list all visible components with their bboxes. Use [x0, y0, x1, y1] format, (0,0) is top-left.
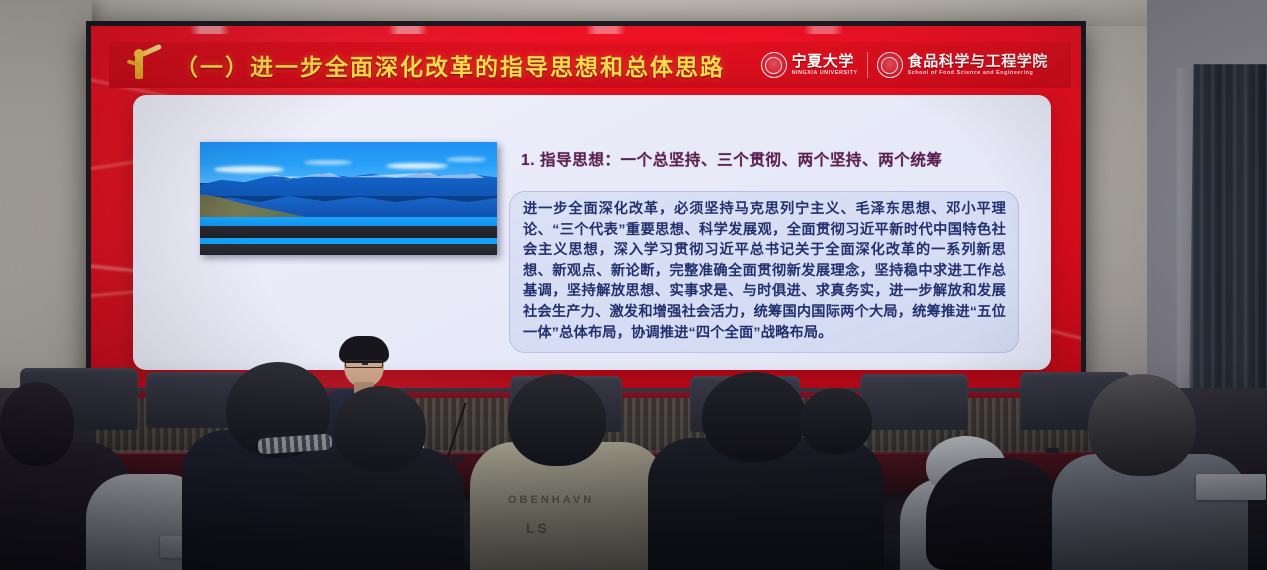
- slide-title: （一）进一步全面深化改革的指导思想和总体思路: [175, 48, 725, 82]
- audience-papers: [1196, 474, 1266, 500]
- led-video-wall-screen: （一）进一步全面深化改革的指导思想和总体思路 宁夏大学 NINGXIA UNIV…: [91, 26, 1081, 391]
- logo-name-en: NINGXIA UNIVERSITY: [792, 71, 858, 76]
- audience-member-ponytail: [926, 458, 1066, 570]
- logo-school-of-food-science: 食品科学与工程学院 School of Food Science and Eng…: [867, 52, 1057, 78]
- led-video-wall-frame: （一）进一步全面深化改革的指导思想和总体思路 宁夏大学 NINGXIA UNIV…: [86, 21, 1086, 396]
- list-item: [1052, 370, 1252, 570]
- audience-head: [702, 372, 806, 462]
- slide-heading: 1. 指导思想：一个总坚持、三个贯彻、两个坚持、两个统筹: [521, 148, 943, 170]
- logo-name-cn: 食品科学与工程学院: [908, 54, 1048, 69]
- slide-content-canvas: 1. 指导思想：一个总坚持、三个贯彻、两个坚持、两个统筹 进一步全面深化改革，必…: [133, 95, 1051, 370]
- audience-head: [334, 386, 426, 472]
- jacket-print-text-second-line: LS: [526, 520, 550, 536]
- list-item: [648, 374, 888, 570]
- panoramic-landscape-photo: [200, 142, 497, 255]
- presenter-hair: [339, 336, 389, 363]
- curtain-fold-highlight: [1177, 68, 1193, 420]
- ningxia-university-seal-icon: [761, 52, 787, 78]
- torch-bearer-emblem-icon: [119, 45, 163, 85]
- list-item: [300, 392, 470, 570]
- logo-name-cn: 宁夏大学: [792, 54, 858, 69]
- audience-head: [0, 382, 74, 466]
- audience-head: [1088, 374, 1196, 476]
- presentation-photograph-scene: （一）进一步全面深化改革的指导思想和总体思路 宁夏大学 NINGXIA UNIV…: [0, 0, 1267, 570]
- audience-head: [508, 374, 606, 466]
- window-curtain: [1189, 64, 1267, 420]
- logo-ningxia-university: 宁夏大学 NINGXIA UNIVERSITY: [752, 52, 867, 78]
- audience-head: [800, 388, 872, 454]
- jacket-print-text: OBENHAVN: [508, 494, 594, 506]
- slide-title-bar: （一）进一步全面深化改革的指导思想和总体思路 宁夏大学 NINGXIA UNIV…: [109, 42, 1071, 88]
- slide-body-textbox: 进一步全面深化改革，必须坚持马克思列宁主义、毛泽东思想、邓小平理论、“三个代表”…: [509, 191, 1019, 353]
- left-wall-panel: [0, 0, 92, 420]
- list-item: OBENHAVN LS: [470, 378, 670, 570]
- institution-logos: 宁夏大学 NINGXIA UNIVERSITY 食品科学与工程学院 School…: [752, 52, 1071, 78]
- led-top-glints: [91, 26, 1081, 34]
- logo-name-en: School of Food Science and Engineering: [908, 71, 1048, 76]
- slide-body-text: 进一步全面深化改革，必须坚持马克思列宁主义、毛泽东思想、邓小平理论、“三个代表”…: [523, 199, 1006, 343]
- school-of-food-science-seal-icon: [877, 52, 903, 78]
